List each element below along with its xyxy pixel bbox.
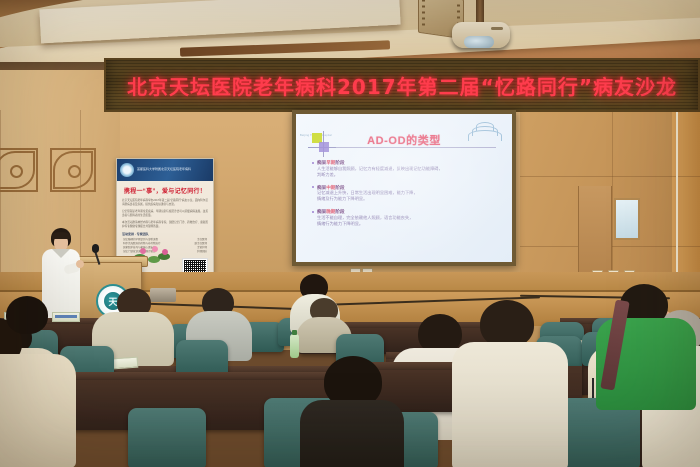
- agenda-speaker: 护理团队: [197, 250, 207, 254]
- slide-head-prefix: 痴呆: [317, 160, 326, 166]
- wall-seam-vertical: [0, 110, 1, 290]
- slide-line: 判断力差。: [317, 172, 500, 178]
- person-torso: [300, 400, 404, 467]
- poster-header: 首都医科大学附属北京天坛医院老年病科: [117, 159, 213, 181]
- audience-person: [300, 362, 404, 467]
- slide-body: 痴呆 早期 阶段 人生活能够自我照顾，记忆力有轻度减退，反映出现记忆功能障碍， …: [312, 160, 500, 234]
- chair[interactable]: [176, 340, 228, 376]
- person-torso: [452, 342, 568, 467]
- microphone-icon: [92, 244, 99, 253]
- slide-head-suffix: 阶段: [335, 160, 344, 166]
- wall-seam-vertical: [612, 88, 613, 288]
- projector-icon: [452, 22, 510, 48]
- projection-screen-frame: Beijing Tiantan Hospital AD-OD的类型 痴呆 早期 …: [292, 110, 516, 266]
- poster-title: 携程一“事”，爱与记忆同行！: [117, 186, 213, 195]
- wall-seam: [520, 176, 700, 177]
- slide-group: 痴呆 晚期 阶段 生活不能自理，完全依赖他人照顾，语言功能丧失， 情绪行为能力下…: [312, 209, 500, 227]
- poster-paragraph: 记忆障碍是老年期常见疾病，早期识别与规范诊治可以延缓病情进展，改善患者与照料者的…: [117, 210, 213, 218]
- person-head: [6, 296, 48, 334]
- bullet-icon: [312, 186, 314, 188]
- projector-lens: [464, 36, 494, 48]
- speaker-fringe: [52, 232, 70, 239]
- audience-person: [0, 296, 70, 392]
- slide-title: AD-OD的类型: [296, 132, 512, 148]
- conference-room-photo: 北京天坛医院老年病科2017年第二届“忆路同行”病友沙龙 Beijing Tia…: [0, 0, 700, 467]
- slide-line: 情绪及行为能力下降明显。: [317, 196, 500, 202]
- poster-agenda-label: 活动安排 · 专家团队: [117, 232, 213, 236]
- wall-ornament-icon: [50, 148, 96, 192]
- event-led-banner: 北京天坛医院老年病科2017年第二届“忆路同行”病友沙龙: [104, 58, 700, 112]
- slide-head-highlight: 早期: [326, 160, 335, 166]
- control-window: [614, 198, 640, 240]
- slide-group: 痴呆 中期 阶段 记忆减退上升快，日常生活出现明显困难，能力下降， 情绪及行为能…: [312, 185, 500, 203]
- bullet-icon: [312, 211, 314, 213]
- poster-hospital-logo-icon: [120, 163, 134, 177]
- chair[interactable]: [128, 408, 206, 467]
- water-bottle: [290, 334, 299, 358]
- projector-vent: [491, 27, 503, 30]
- slide-line: 情绪行为能力下降明显。: [317, 221, 500, 227]
- speaker-hand: [76, 260, 84, 268]
- projection-screen: Beijing Tiantan Hospital AD-OD的类型 痴呆 早期 …: [296, 114, 512, 262]
- poster-header-text: 首都医科大学附属北京天坛医院老年病科: [137, 168, 191, 172]
- audience-person: [452, 352, 562, 467]
- poster-paragraph: 本次活动邀请神经内科与老年病科专家，围绕记忆门诊、药物治疗、康复照护等专题做专题…: [117, 221, 213, 229]
- event-banner-text: 北京天坛医院老年病科2017年第二届“忆路同行”病友沙龙: [127, 71, 677, 100]
- wall-ornament-icon: [0, 148, 38, 192]
- speaker-grille: [422, 0, 425, 26]
- slide-group: 痴呆 早期 阶段 人生活能够自我照顾，记忆力有轻度减退，反映出现记忆功能障碍， …: [312, 160, 500, 178]
- bullet-icon: [312, 162, 314, 164]
- person-head: [480, 300, 534, 348]
- poster-paragraph: 北京天坛医院老年病科举办2017年第二届“忆路同行”病友沙龙，面向阿尔茨海默病患…: [117, 199, 213, 207]
- cable-drop: [676, 104, 678, 280]
